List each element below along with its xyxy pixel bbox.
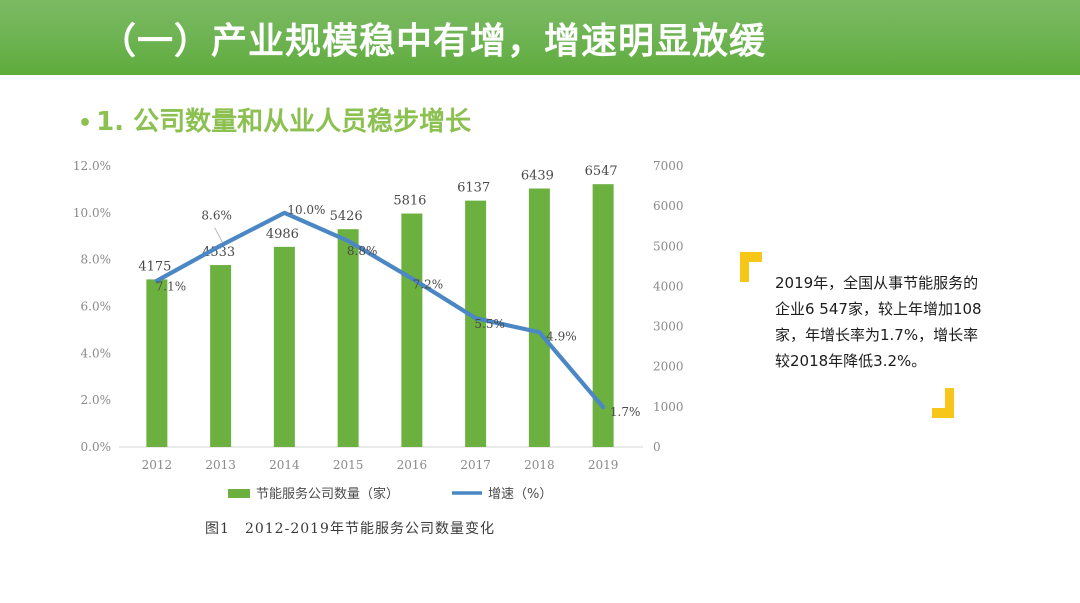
left-axis-tick: 8.0%	[81, 253, 112, 267]
bar-2018	[529, 189, 550, 447]
line-value-label: 8.8%	[347, 244, 378, 258]
right-axis-tick: 6000	[653, 199, 684, 213]
legend-label-line: 增速（%）	[488, 487, 552, 502]
chart-container: 0.0%2.0%4.0%6.0%8.0%10.0%12.0%0100020003…	[0, 150, 700, 510]
right-axis-tick: 5000	[653, 239, 684, 253]
quote-close-icon	[932, 388, 954, 418]
bar-2014	[274, 247, 295, 447]
right-axis-tick: 1000	[653, 400, 684, 414]
bullet-icon: •	[78, 111, 92, 136]
side-note-text: 2019年，全国从事节能服务的企业6 547家，较上年增加108家，年增长率为1…	[775, 270, 987, 374]
bar-2012	[146, 279, 167, 447]
right-axis-tick: 4000	[653, 279, 684, 293]
company-count-growth-chart: 0.0%2.0%4.0%6.0%8.0%10.0%12.0%0100020003…	[0, 150, 700, 510]
line-value-label: 7.2%	[413, 277, 444, 291]
x-axis-tick-2018: 2018	[524, 458, 555, 472]
x-axis-tick-2014: 2014	[269, 458, 300, 472]
right-axis-tick: 3000	[653, 320, 684, 334]
left-axis-tick: 10.0%	[73, 206, 111, 220]
subtitle-label: 1. 公司数量和从业人员稳步增长	[96, 107, 471, 137]
line-value-label: 7.1%	[156, 280, 187, 294]
line-value-label: 8.6%	[201, 209, 232, 223]
x-axis-tick-2019: 2019	[588, 458, 619, 472]
right-axis-tick: 0	[653, 440, 661, 454]
right-axis-tick: 2000	[653, 360, 684, 374]
right-axis-tick: 7000	[653, 159, 684, 173]
page-title: （一）产业规模稳中有增，增速明显放缓	[100, 12, 766, 64]
bar-value-label: 4175	[138, 259, 171, 274]
line-value-label: 10.0%	[287, 203, 325, 217]
left-axis-tick: 2.0%	[81, 393, 112, 407]
quote-open-icon	[740, 252, 762, 282]
bar-2016	[401, 214, 422, 447]
side-note: 2019年，全国从事节能服务的企业6 547家，较上年增加108家，年增长率为1…	[735, 248, 985, 433]
legend-marker-bar	[228, 489, 250, 498]
bar-value-label: 4986	[266, 227, 299, 242]
left-axis-tick: 6.0%	[81, 300, 112, 314]
x-axis-tick-2013: 2013	[205, 458, 236, 472]
bar-value-label: 5816	[393, 194, 426, 209]
left-axis-tick: 0.0%	[81, 440, 112, 454]
bar-2013	[210, 265, 231, 447]
x-axis-tick-2016: 2016	[397, 458, 428, 472]
left-axis-tick: 12.0%	[73, 159, 111, 173]
bar-value-label: 5426	[330, 209, 363, 224]
x-axis-tick-2012: 2012	[142, 458, 173, 472]
line-value-label: 1.7%	[610, 405, 641, 419]
figure-caption: 图1 2012-2019年节能服务公司数量变化	[0, 518, 700, 538]
line-value-label: 5.5%	[474, 317, 505, 331]
line-value-label: 4.9%	[546, 329, 577, 343]
left-axis-tick: 4.0%	[81, 346, 112, 360]
bar-value-label: 6137	[457, 181, 490, 196]
x-axis-tick-2015: 2015	[333, 458, 364, 472]
x-axis-tick-2017: 2017	[460, 458, 491, 472]
section-subtitle: •1. 公司数量和从业人员稳步增长	[78, 101, 471, 138]
bar-2015	[338, 229, 359, 447]
bar-value-label: 6547	[585, 164, 618, 179]
bar-value-label: 6439	[521, 169, 554, 184]
callout-leader-line	[215, 228, 223, 243]
legend-label-bar: 节能服务公司数量（家）	[256, 486, 399, 502]
